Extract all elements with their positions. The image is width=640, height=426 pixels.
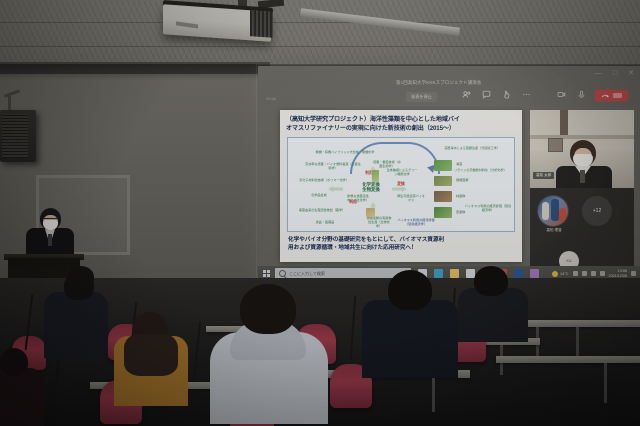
- ceiling-seam: [0, 22, 640, 23]
- desk: [496, 356, 640, 363]
- presenter-tie: [48, 234, 52, 246]
- desk-leg: [604, 363, 607, 403]
- audience-head: [68, 266, 94, 288]
- audience-area: [0, 278, 640, 426]
- audience-torso: [44, 292, 108, 358]
- projector-vent: [250, 10, 273, 38]
- screen-frame: [256, 64, 640, 298]
- audience-head: [474, 266, 508, 296]
- audience-torso: [0, 368, 44, 426]
- audience-torso: [362, 300, 458, 378]
- audience-head: [388, 270, 432, 310]
- audience-head: [0, 348, 28, 376]
- desk-leg: [432, 378, 435, 412]
- lecture-hall-photo: — □ ✕ 第1回高知大学KKKスプロジェクト講演会 03:58 発表を停止: [0, 0, 640, 426]
- audience-head: [240, 284, 296, 334]
- ceiling-seam: [0, 46, 640, 47]
- speaker-grill: [2, 114, 28, 158]
- audience-hair: [124, 334, 178, 376]
- projector-logo: [176, 21, 198, 28]
- wall-speaker: [0, 110, 36, 162]
- audience-torso: [458, 288, 528, 342]
